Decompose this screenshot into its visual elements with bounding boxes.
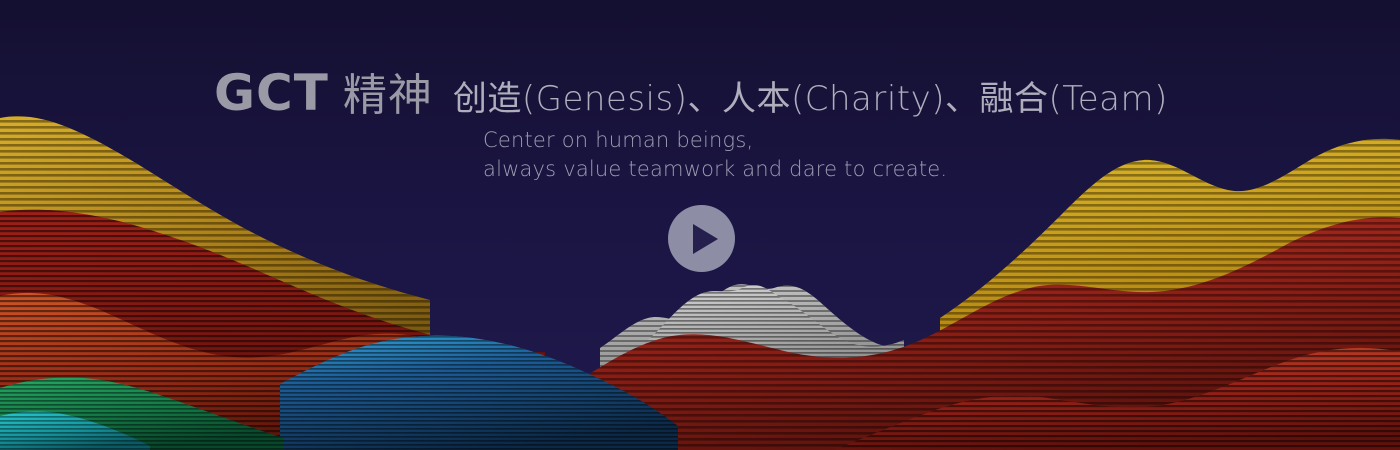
tagline-line-2: always value teamwork and dare to create… xyxy=(483,155,947,184)
brand-gct: GCT xyxy=(214,68,329,118)
headline: GCT 精神 创造(Genesis)、人本(Charity)、融合(Team) xyxy=(214,68,1168,118)
tagline: Center on human beings, always value tea… xyxy=(483,126,947,184)
core-values-cn: 创造(Genesis)、人本(Charity)、融合(Team) xyxy=(453,82,1168,116)
brand-cn: 精神 xyxy=(343,74,433,118)
play-video-button[interactable] xyxy=(668,205,735,272)
tagline-line-1: Center on human beings, xyxy=(483,126,947,155)
hero-banner: GCT 精神 创造(Genesis)、人本(Charity)、融合(Team) … xyxy=(0,0,1400,450)
play-icon xyxy=(693,224,718,254)
